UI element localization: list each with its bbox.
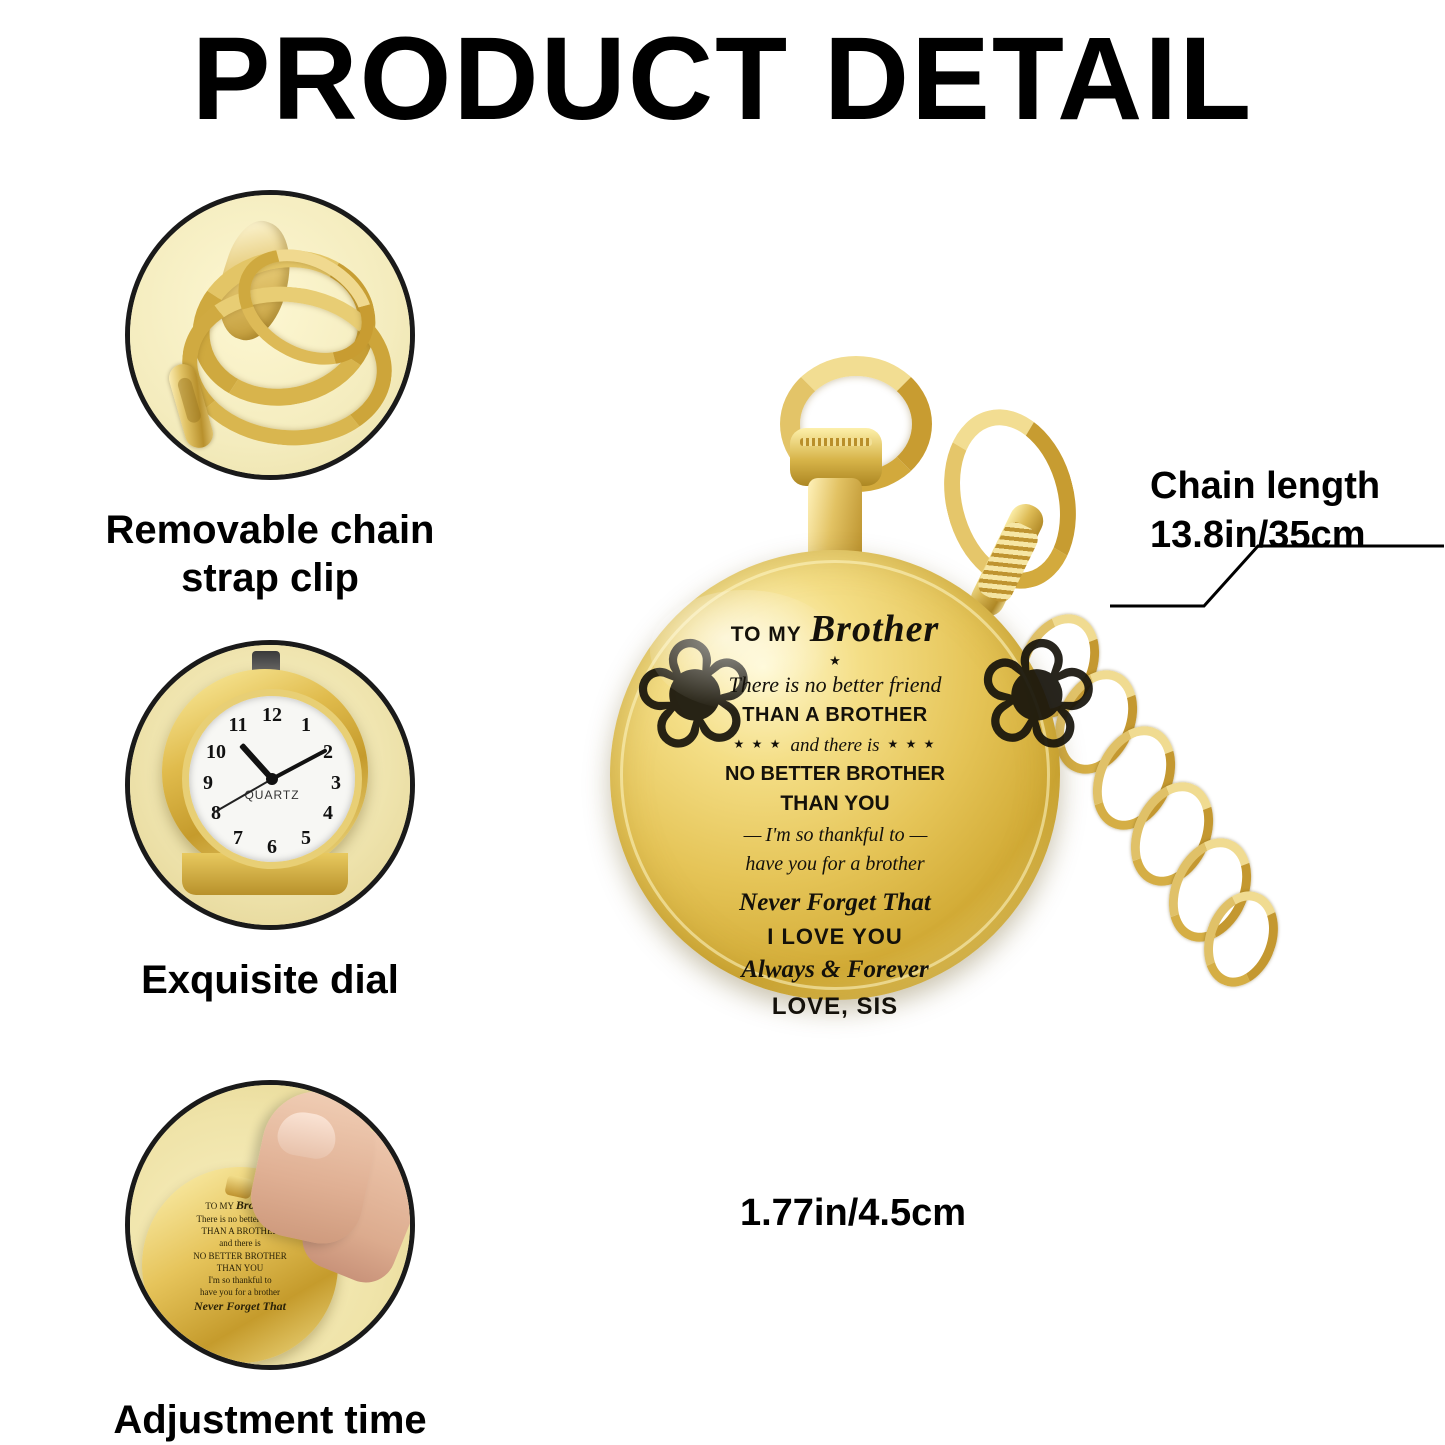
dial-numeral: 1 bbox=[293, 714, 319, 737]
dial-numeral: 12 bbox=[259, 704, 285, 727]
feature-caption: Adjustment time bbox=[55, 1396, 485, 1444]
feature-caption: Removable chain strap clip bbox=[55, 506, 485, 602]
floral-flourish-icon: ❀ bbox=[622, 612, 767, 778]
dial-numeral: 5 bbox=[293, 827, 319, 850]
chain-length-value: 13.8in/35cm bbox=[1150, 514, 1440, 557]
feature-caption-line1: Removable chain bbox=[55, 506, 485, 554]
dial-numeral: 10 bbox=[203, 741, 229, 764]
callout-case-diameter: 1.77in/4.5cm bbox=[723, 1192, 983, 1235]
feature-exquisite-dial: 12 1 2 3 4 5 6 7 8 9 10 11 QUARTZ Exquis… bbox=[55, 640, 485, 1004]
dial-numeral: 11 bbox=[225, 714, 251, 737]
dial-photo: 12 1 2 3 4 5 6 7 8 9 10 11 QUARTZ bbox=[125, 640, 415, 930]
feature-caption-line2: strap clip bbox=[55, 554, 485, 602]
dial-numeral: 4 bbox=[315, 802, 341, 825]
chain-length-label: Chain length bbox=[1150, 465, 1440, 508]
dial-numeral: 7 bbox=[225, 827, 251, 850]
feature-removable-chain-strap-clip: Removable chain strap clip bbox=[55, 190, 485, 602]
feature-caption-line1: Exquisite dial bbox=[55, 956, 485, 1004]
page-title: PRODUCT DETAIL bbox=[0, 18, 1445, 142]
feature-adjustment-time: TO MY Brother There is no better friend … bbox=[55, 1080, 485, 1444]
feature-caption-line1: Adjustment time bbox=[55, 1396, 485, 1444]
hand-center-cap bbox=[266, 773, 278, 785]
dial-face: 12 1 2 3 4 5 6 7 8 9 10 11 QUARTZ bbox=[182, 689, 362, 869]
minute-hand bbox=[271, 748, 328, 781]
floral-flourish-icon: ❀ bbox=[964, 612, 1109, 778]
chain-clip-photo bbox=[125, 190, 415, 480]
feature-caption: Exquisite dial bbox=[55, 956, 485, 1004]
dial-numeral: 6 bbox=[259, 836, 285, 859]
dial-brand-text: QUARTZ bbox=[189, 788, 355, 802]
callout-chain-length: Chain length 13.8in/35cm bbox=[1150, 465, 1440, 557]
adjustment-photo: TO MY Brother There is no better friend … bbox=[125, 1080, 415, 1370]
main-product-image: ❀ ❀ TO MY Brother ★ There is no better f… bbox=[590, 350, 1290, 1110]
